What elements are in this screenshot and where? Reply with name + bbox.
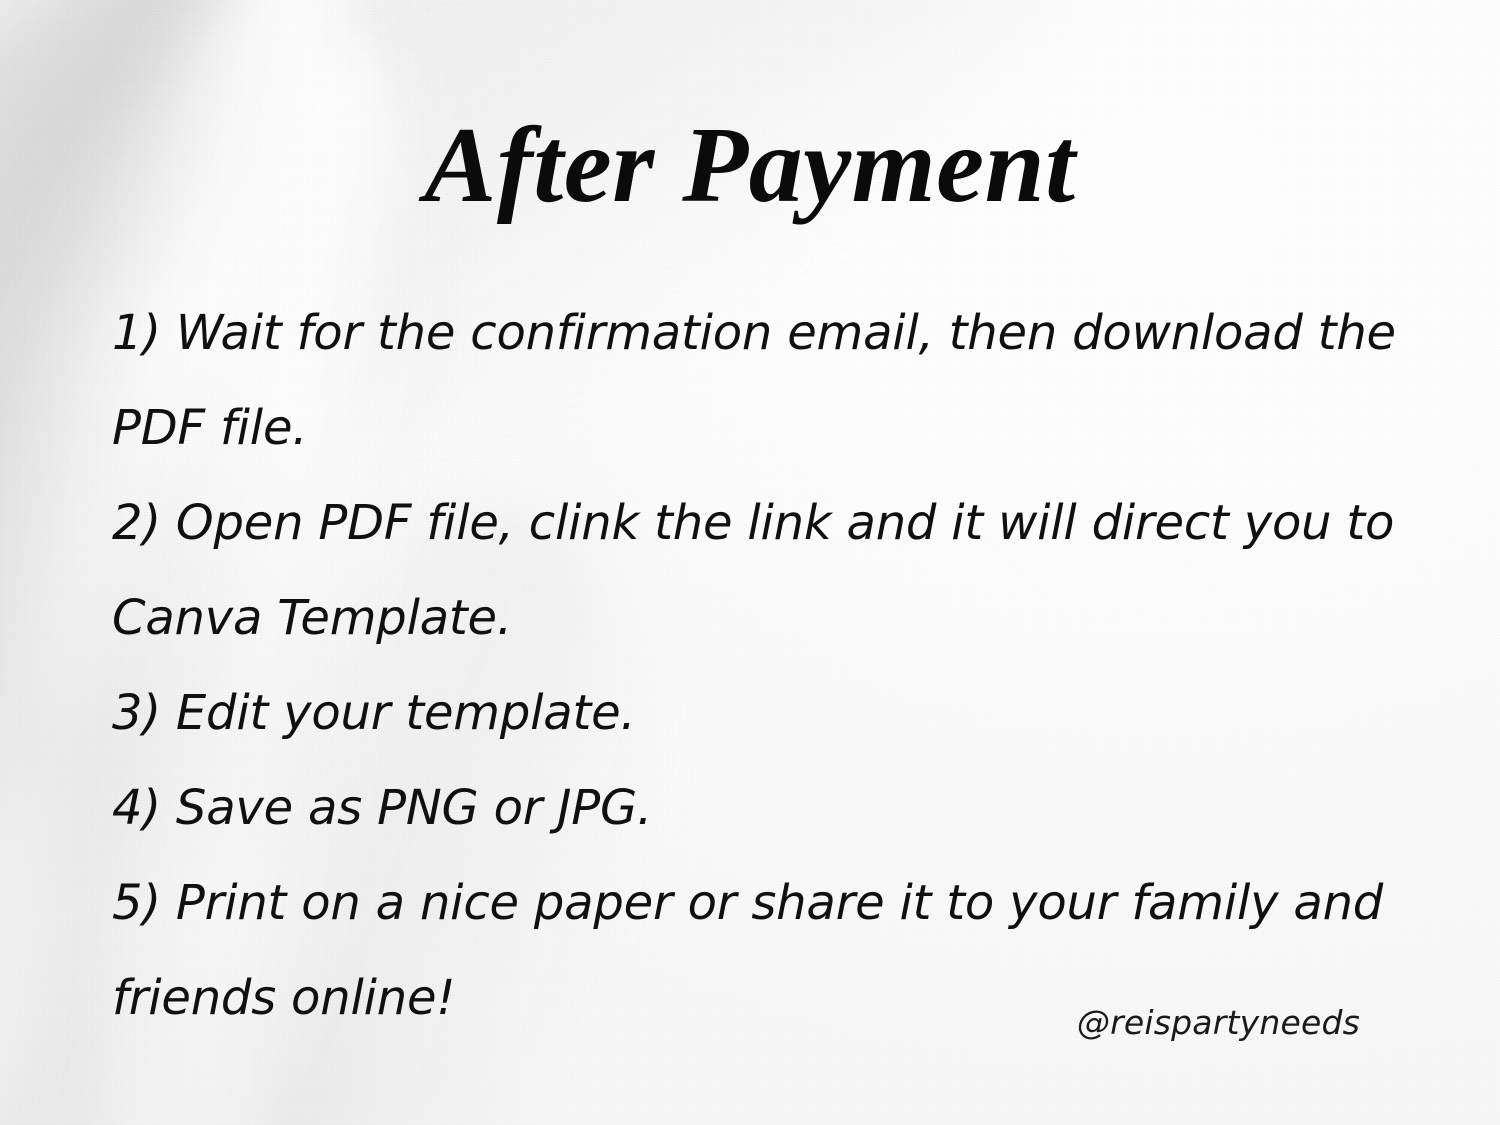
instruction-line: PDF file. xyxy=(112,381,1442,476)
instruction-line: 5) Print on a nice paper or share it to … xyxy=(112,856,1442,951)
instruction-line: 1) Wait for the confirmation email, then… xyxy=(112,286,1442,381)
instruction-line: Canva Template. xyxy=(112,571,1442,666)
slide-canvas: After Payment 1) Wait for the confirmati… xyxy=(0,0,1500,1125)
instructions-list: 1) Wait for the confirmation email, then… xyxy=(112,286,1442,1046)
instruction-line: 2) Open PDF file, clink the link and it … xyxy=(112,476,1442,571)
instruction-line: 4) Save as PNG or JPG. xyxy=(112,761,1442,856)
page-title: After Payment xyxy=(0,108,1500,225)
slide-content: After Payment 1) Wait for the confirmati… xyxy=(0,0,1500,1125)
instruction-line: 3) Edit your template. xyxy=(112,666,1442,761)
watermark-handle: @reispartyneeds xyxy=(0,1003,1360,1042)
